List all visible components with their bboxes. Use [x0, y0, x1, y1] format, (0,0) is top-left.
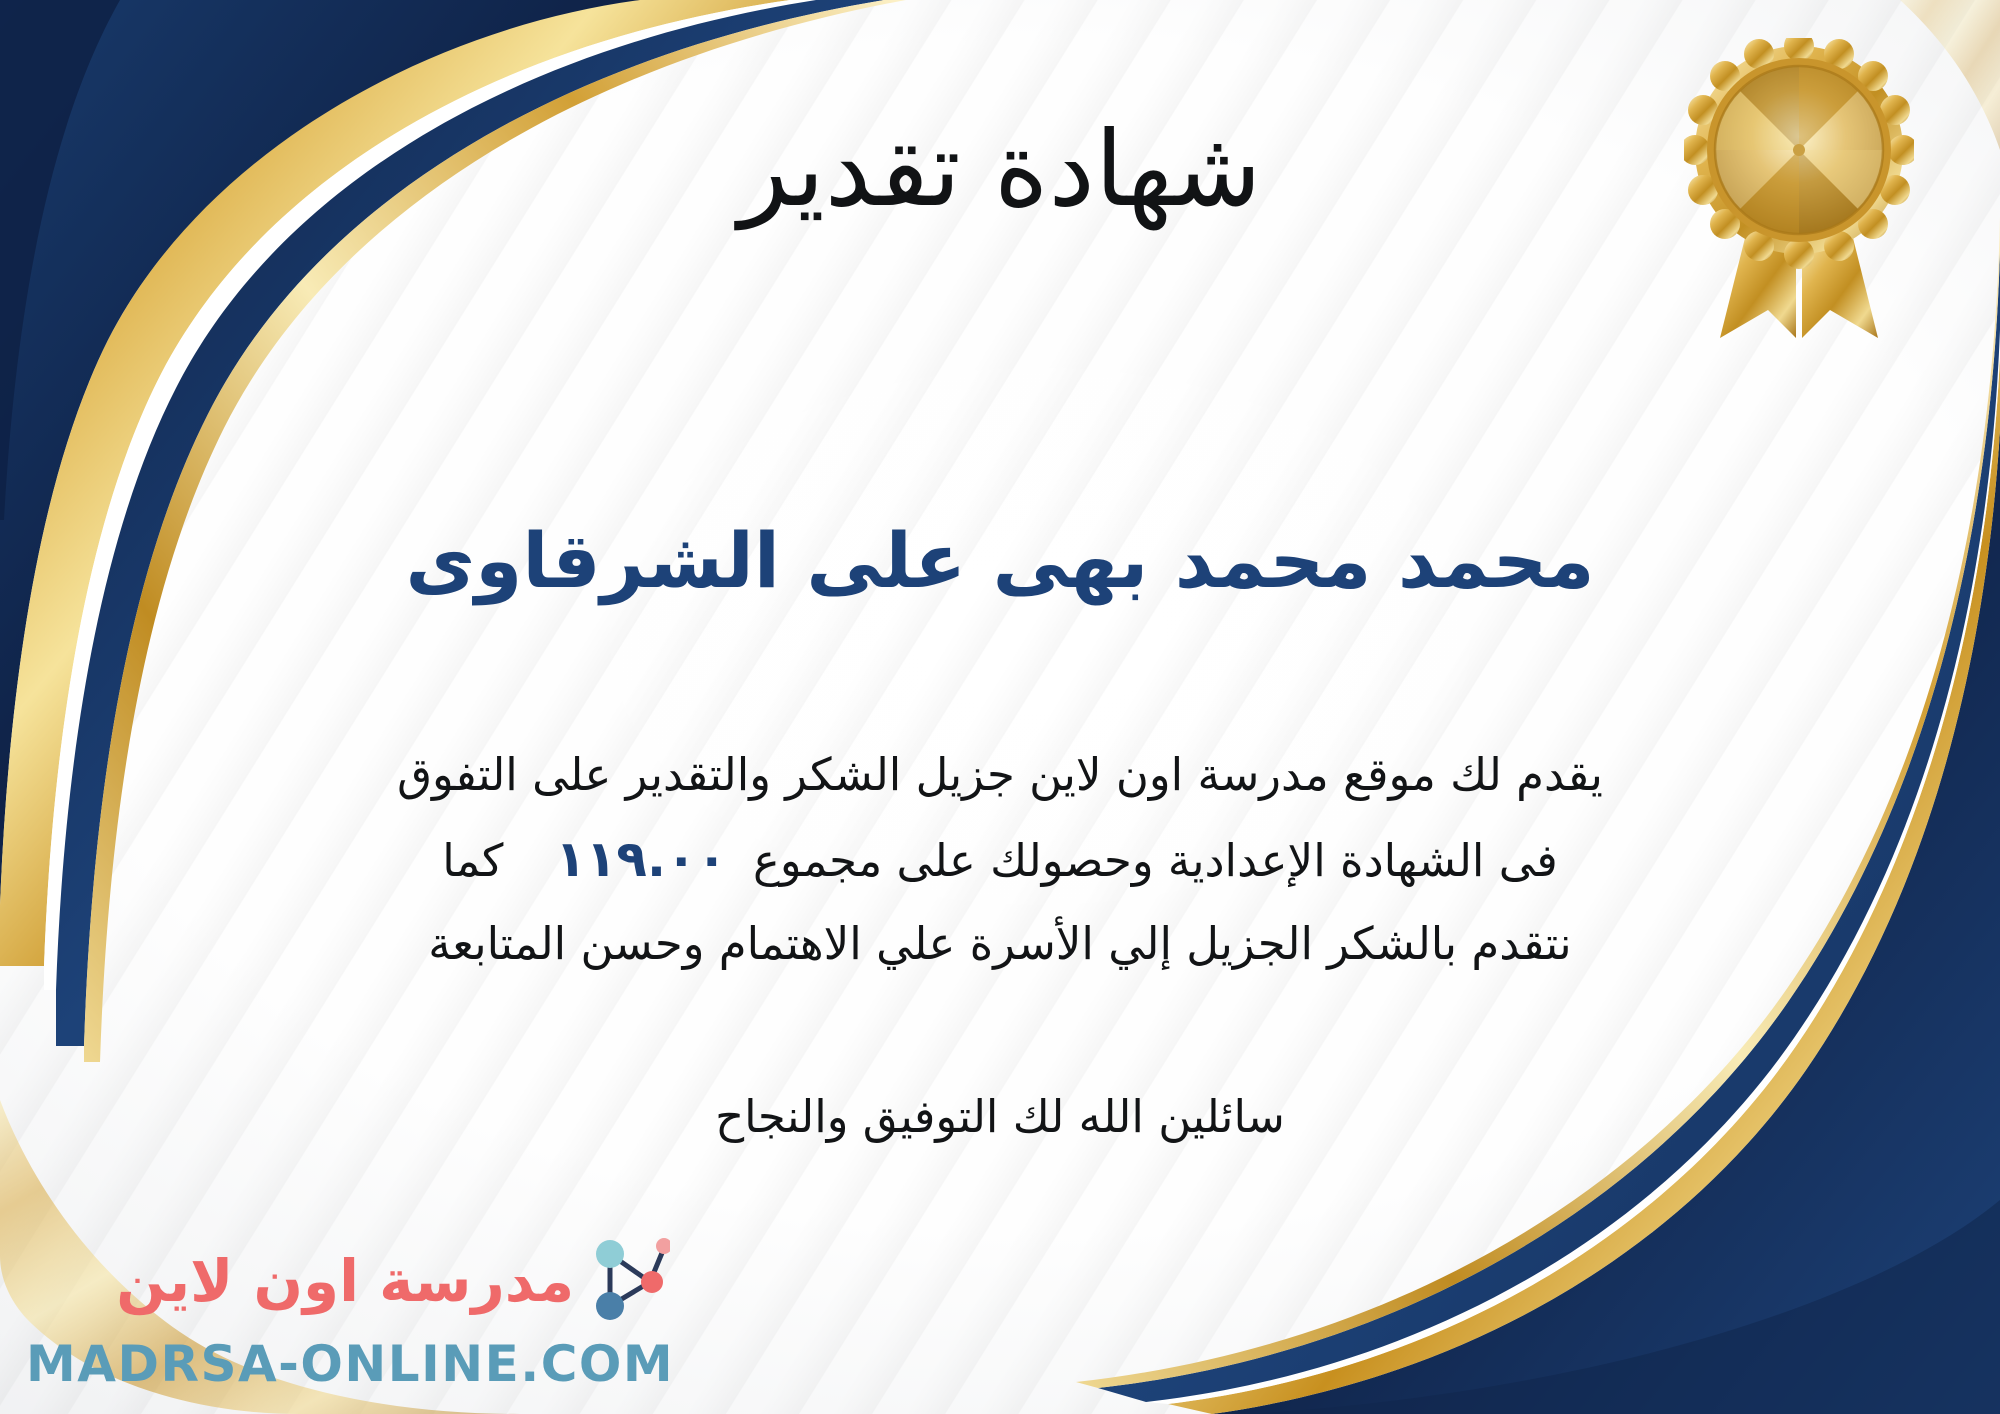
network-nodes-icon	[584, 1228, 670, 1336]
closing-line: سائلين الله لك التوفيق والنجاح	[0, 1090, 2000, 1143]
brand-website-url[interactable]: MADRSA-ONLINE.COM	[26, 1338, 674, 1391]
brand-logo-row: مدرسة اون لاين	[116, 1228, 674, 1336]
navy-edge-strip-bottom-right	[1250, 1200, 2000, 1414]
total-score-value: ١١٩.٠٠	[529, 815, 753, 904]
body-line-2: فى الشهادة الإعدادية وحصولك على مجموع١١٩…	[60, 815, 1940, 904]
body-line-1: يقدم لك موقع مدرسة اون لاين جزيل الشكر و…	[60, 735, 1940, 815]
brand-logo[interactable]: مدرسة اون لاين MADRSA-ONLINE.COM	[26, 1228, 674, 1391]
navy-edge-strip-left	[0, 0, 120, 520]
body-line-2-suffix: كما	[442, 834, 503, 887]
brand-arabic-name: مدرسة اون لاين	[116, 1251, 574, 1312]
recipient-name: محمد محمد بهى على الشرقاوى	[0, 516, 2000, 606]
certificate-canvas: شهادة تقدير محمد محمد بهى على الشرقاوى ي…	[0, 0, 2000, 1414]
body-line-3: نتقدم بالشكر الجزيل إلي الأسرة علي الاهت…	[60, 904, 1940, 984]
certificate-body: يقدم لك موقع مدرسة اون لاين جزيل الشكر و…	[0, 735, 2000, 984]
body-line-2-prefix: فى الشهادة الإعدادية وحصولك على مجموع	[753, 834, 1558, 887]
page-title: شهادة تقدير	[0, 112, 2000, 226]
